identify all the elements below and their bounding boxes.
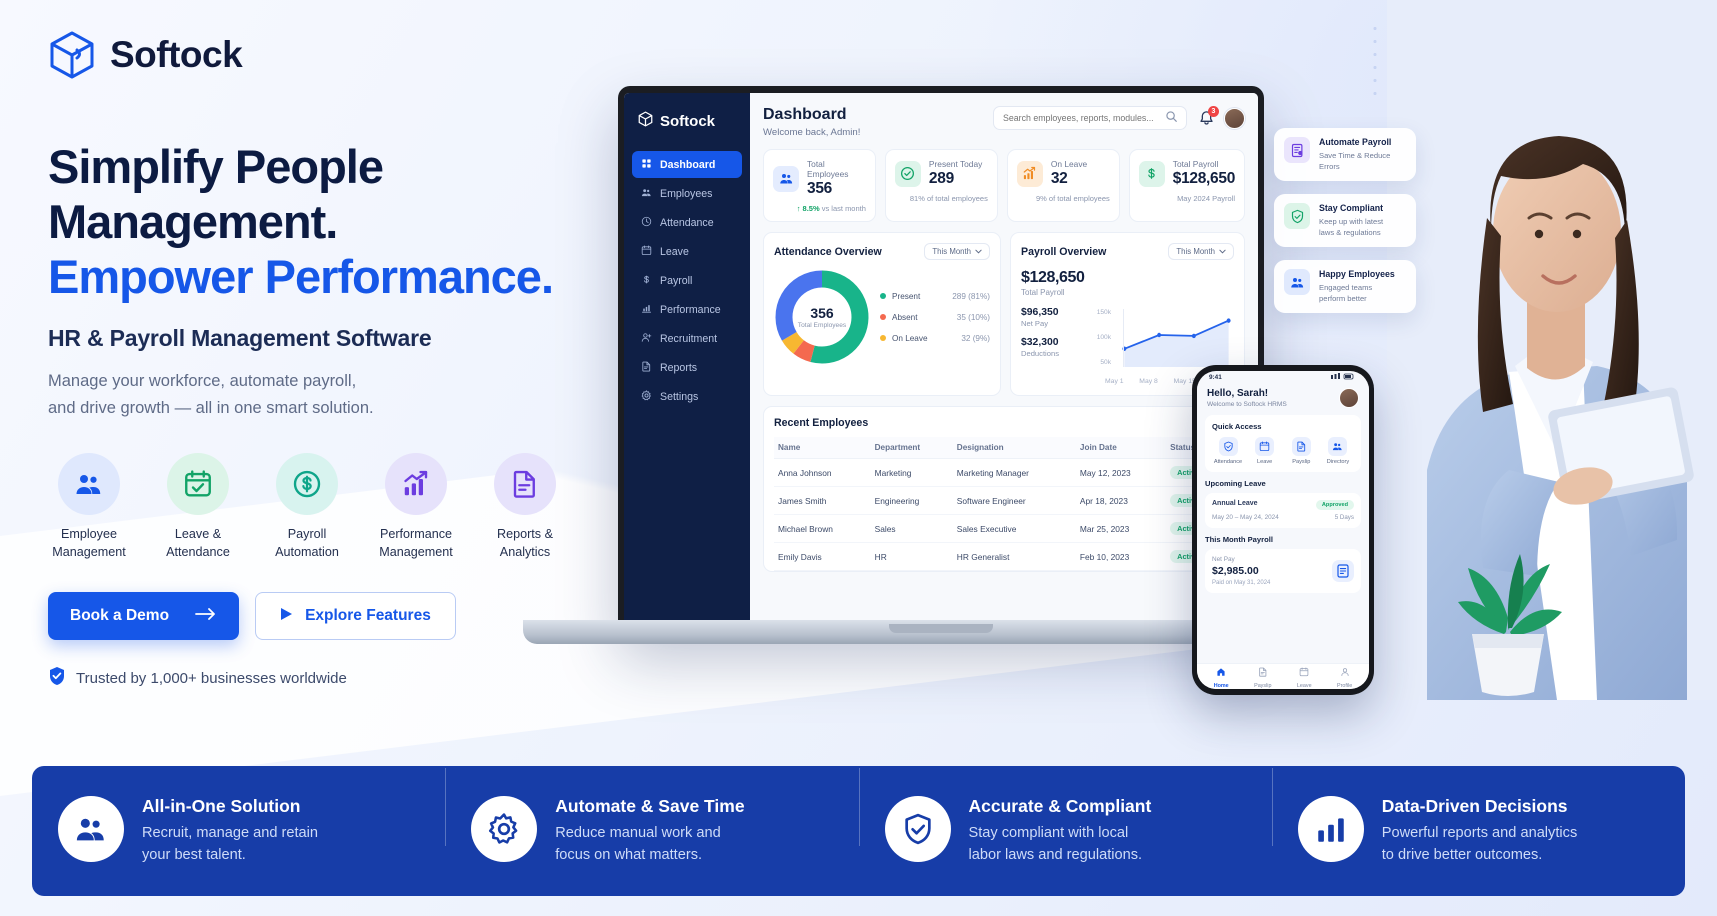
x-tick: May 8 [1139, 378, 1158, 385]
payroll-total-label: Total Payroll [1021, 288, 1234, 297]
phone-tab-label: Payslip [1254, 683, 1271, 689]
bar-chart-up-icon [1017, 161, 1043, 187]
payroll-period-filter[interactable]: This Month [1168, 243, 1234, 260]
table-cell: Marketing [871, 459, 953, 487]
floating-card-title: Happy Employees [1319, 269, 1395, 279]
kpi-value: 32 [1051, 170, 1087, 188]
kpi-footnote: May 2024 Payroll [1139, 194, 1235, 203]
phone-net-pay-value: $2,985.00 [1212, 565, 1270, 577]
calendar-icon [1255, 437, 1274, 456]
brand-name: Softock [110, 34, 242, 76]
donut-center-label: Total Employees [798, 322, 846, 329]
table-cell: Marketing Manager [953, 459, 1076, 487]
phone-body: Quick Access AttendanceLeavePayslipDirec… [1197, 415, 1369, 663]
gear-icon [641, 390, 652, 404]
table-header-cell: Join Date [1076, 437, 1166, 459]
floating-card-2: Happy EmployeesEngaged teamsperform bett… [1274, 260, 1416, 313]
feature-label-3: PerformanceManagement [375, 526, 457, 562]
payroll-chart-area: $96,350 Net Pay $32,300 Deductions 150k1… [1021, 307, 1234, 376]
calendar-icon [1299, 664, 1309, 681]
feature-item-1[interactable]: Leave &Attendance [157, 453, 239, 562]
document-icon [1258, 664, 1268, 681]
table-cell: HR [871, 543, 953, 571]
month-payroll-card[interactable]: Net Pay $2,985.00 Paid on May 31, 2024 [1205, 549, 1361, 593]
kpi-row: Total Employees356↑ 8.5% vs last monthPr… [763, 149, 1245, 222]
legend-label: Present [892, 292, 920, 301]
floating-card-0: Automate PayrollSave Time & ReduceErrors [1274, 128, 1416, 181]
bottom-banner: All-in-One SolutionRecruit, manage and r… [32, 766, 1685, 896]
sidebar-item-performance[interactable]: Performance [632, 296, 742, 323]
attendance-panel-title: Attendance Overview [774, 246, 882, 258]
document-icon [494, 453, 556, 515]
sidebar-item-recruitment[interactable]: Recruitment [632, 325, 742, 352]
leave-days: 5 Days [1335, 514, 1354, 521]
headline-line-3: Empower Performance. [48, 250, 688, 305]
upcoming-leave-card[interactable]: Annual Leave Approved May 20 – May 24, 2… [1205, 493, 1361, 528]
table-header-cell: Department [871, 437, 953, 459]
phone-header: Hello, Sarah! Welcome to Softock HRMS [1197, 384, 1369, 415]
kpi-value: 356 [807, 180, 866, 198]
arrow-right-icon [195, 607, 217, 625]
feature-label-2: PayrollAutomation [266, 526, 348, 562]
quick-access-grid: AttendanceLeavePayslipDirectory [1212, 437, 1354, 465]
table-cell: Sales Executive [953, 515, 1076, 543]
floating-card-subtitle: Keep up with latestlaws & regulations [1319, 216, 1383, 238]
banner-subtitle: Reduce manual work andfocus on what matt… [555, 823, 744, 867]
deductions-value: $32,300 [1021, 337, 1083, 348]
table-cell: Engineering [871, 487, 953, 515]
leave-dates: May 20 – May 24, 2024 [1212, 514, 1279, 521]
plant-decoration [1438, 520, 1578, 700]
kpi-card-1: Present Today28981% of total employees [885, 149, 998, 222]
payslip-icon [1332, 560, 1354, 582]
bar-chart-icon [1298, 796, 1364, 862]
leave-row-top: Annual Leave Approved [1212, 500, 1354, 510]
table-cell: HR Generalist [953, 543, 1076, 571]
payroll-breakdown: $96,350 Net Pay $32,300 Deductions [1021, 307, 1083, 376]
document-icon [641, 361, 652, 375]
phone-screen: 9:41 Hello, Sarah! Welcome to Softock HR… [1197, 371, 1369, 689]
banner-subtitle: Recruit, manage and retainyour best tale… [142, 823, 318, 867]
hero-section: Softock Simplify People Management. Empo… [48, 30, 688, 690]
phone-tab-label: Profile [1337, 683, 1352, 689]
feature-item-2[interactable]: PayrollAutomation [266, 453, 348, 562]
chevron-down-icon [975, 247, 982, 256]
calendar-check-icon [167, 453, 229, 515]
bar-chart-up-icon [385, 453, 447, 515]
shield-check-icon [1219, 437, 1238, 456]
table-cell: Feb 10, 2023 [1076, 543, 1166, 571]
chevron-down-icon [1219, 247, 1226, 256]
hero-description: Manage your workforce, automate payroll,… [48, 368, 688, 421]
dashboard-topbar: Dashboard Welcome back, Admin! [763, 106, 1245, 138]
quick-access-item-1[interactable]: Leave [1249, 437, 1281, 465]
banner-column-3: Data-Driven DecisionsPowerful reports an… [1272, 796, 1685, 867]
topbar-right: 3 [993, 106, 1245, 130]
people-icon [58, 453, 120, 515]
sidebar-item-settings[interactable]: Settings [632, 383, 742, 410]
phone-avatar[interactable] [1339, 388, 1359, 408]
page-title: Simplify People Management. Empower Perf… [48, 140, 688, 305]
sidebar-item-label: Settings [660, 391, 698, 403]
table-header-cell: Designation [953, 437, 1076, 459]
donut-center: 356 Total Employees [793, 288, 851, 346]
banner-column-2: Accurate & CompliantStay compliant with … [859, 796, 1272, 867]
grid-icon [641, 158, 652, 172]
phone-paid-on: Paid on May 31, 2024 [1212, 580, 1270, 586]
sidebar-item-payroll[interactable]: Payroll [632, 267, 742, 294]
quick-access-card: Quick Access AttendanceLeavePayslipDirec… [1205, 415, 1361, 472]
sidebar-item-reports[interactable]: Reports [632, 354, 742, 381]
quick-access-item-3[interactable]: Directory [1322, 437, 1354, 465]
leave-row-bottom: May 20 – May 24, 2024 5 Days [1212, 510, 1354, 521]
headline-line-2: Management. [48, 195, 688, 250]
kpi-label: Present Today [929, 159, 982, 169]
trust-text: Trusted by 1,000+ businesses worldwide [76, 670, 347, 687]
feature-label-0: EmployeeManagement [48, 526, 130, 562]
table-cell: Mar 25, 2023 [1076, 515, 1166, 543]
table-header-row: NameDepartmentDesignationJoin DateStatus [774, 437, 1234, 459]
sidebar-item-label: Payroll [660, 275, 692, 287]
kpi-card-3: Total Payroll$128,650May 2024 Payroll [1129, 149, 1245, 222]
phone-tab-label: Leave [1297, 683, 1312, 689]
recent-employees-title: Recent Employees [774, 417, 1234, 429]
sidebar-item-label: Dashboard [660, 159, 715, 171]
floating-card-1: Stay CompliantKeep up with latestlaws & … [1274, 194, 1416, 247]
phone-tab-bar: HomePayslipLeaveProfile [1197, 663, 1369, 689]
legend-color-dot [880, 335, 886, 341]
quick-access-label: Leave [1249, 459, 1281, 465]
home-icon [1216, 664, 1226, 681]
phone-tab-leave[interactable]: Leave [1297, 664, 1312, 689]
laptop-lid: Softock DashboardEmployeesAttendanceLeav… [618, 86, 1264, 634]
topbar-icons: 3 [1198, 108, 1245, 129]
table-cell: May 12, 2023 [1076, 459, 1166, 487]
shield-check-icon [48, 666, 66, 690]
calendar-icon [641, 245, 652, 259]
sidebar-item-label: Performance [660, 304, 721, 316]
phone-tab-label: Home [1214, 683, 1229, 689]
search-input[interactable] [1003, 113, 1160, 123]
attendance-panel-header: Attendance Overview This Month [774, 243, 990, 260]
recent-employees-panel: Recent Employees NameDepartmentDesignati… [763, 406, 1245, 572]
table-cell: Anna Johnson [774, 459, 871, 487]
legend-value: 32 (9%) [961, 334, 990, 343]
quick-access-label: Payslip [1285, 459, 1317, 465]
phone-tab-home[interactable]: Home [1214, 664, 1229, 689]
phone-net-pay-label: Net Pay [1212, 556, 1270, 563]
net-pay-label: Net Pay [1021, 319, 1083, 328]
check-circle-icon [895, 161, 921, 187]
kpi-label: Total Payroll [1173, 159, 1235, 169]
legend-value: 289 (81%) [952, 292, 990, 301]
dashboard-title: Dashboard [763, 106, 860, 124]
floating-card-subtitle: Save Time & ReduceErrors [1319, 150, 1391, 172]
net-pay-value: $96,350 [1021, 307, 1083, 318]
donut-chart-area: 356 Total Employees Present289 (81%)Abse… [774, 269, 990, 365]
dashboard-welcome: Welcome back, Admin! [763, 127, 860, 138]
table-body: Anna JohnsonMarketingMarketing ManagerMa… [774, 459, 1234, 571]
table-cell: James Smith [774, 487, 871, 515]
hero-subtitle: HR & Payroll Management Software [48, 325, 688, 352]
panel-row: Attendance Overview This Month [763, 232, 1245, 396]
sidebar-item-label: Recruitment [660, 333, 717, 345]
table-cell: Michael Brown [774, 515, 871, 543]
sidebar-item-employees[interactable]: Employees [632, 180, 742, 207]
legend-item-1: Absent35 (10%) [880, 313, 990, 322]
sidebar-item-label: Employees [660, 188, 712, 200]
feature-item-3[interactable]: PerformanceManagement [375, 453, 457, 562]
legend-color-dot [880, 314, 886, 320]
table-cell: Apr 18, 2023 [1076, 487, 1166, 515]
recent-employees-table: NameDepartmentDesignationJoin DateStatus… [774, 437, 1234, 571]
trust-badge: Trusted by 1,000+ businesses worldwide [48, 666, 688, 690]
feature-icon-row: EmployeeManagementLeave &AttendancePayro… [48, 453, 688, 562]
clock-icon [641, 216, 652, 230]
kpi-card-0: Total Employees356↑ 8.5% vs last month [763, 149, 876, 222]
gear-icon [471, 796, 537, 862]
kpi-card-2: On Leave329% of total employees [1007, 149, 1120, 222]
banner-column-1: Automate & Save TimeReduce manual work a… [445, 796, 858, 867]
banner-title: Data-Driven Decisions [1382, 796, 1578, 817]
search-icon[interactable] [1166, 109, 1177, 127]
sidebar-brand-name: Softock [660, 113, 715, 130]
legend-item-2: On Leave32 (9%) [880, 334, 990, 343]
phone-greeting-block: Hello, Sarah! Welcome to Softock HRMS [1207, 388, 1287, 408]
table-row[interactable]: Anna JohnsonMarketingMarketing ManagerMa… [774, 459, 1234, 487]
dollar-circle-icon [276, 453, 338, 515]
attendance-overview-panel: Attendance Overview This Month [763, 232, 1001, 396]
table-cell: Software Engineer [953, 487, 1076, 515]
legend-item-0: Present289 (81%) [880, 292, 990, 301]
sidebar-item-label: Reports [660, 362, 697, 374]
y-tick: 100k [1091, 334, 1111, 341]
dollar-icon [641, 274, 652, 288]
legend-color-dot [880, 293, 886, 299]
dashboard-sidebar: Softock DashboardEmployeesAttendanceLeav… [624, 93, 750, 625]
sidebar-item-label: Leave [660, 246, 689, 258]
people-icon [1284, 269, 1310, 295]
table-cell: Sales [871, 515, 953, 543]
status-time: 9:41 [1209, 374, 1222, 381]
book-demo-label: Book a Demo [70, 607, 169, 625]
headline-line-1: Simplify People [48, 140, 688, 195]
donut-center-value: 356 [810, 305, 833, 321]
net-pay-block: Net Pay $2,985.00 Paid on May 31, 2024 [1212, 556, 1270, 586]
explore-features-label: Explore Features [305, 607, 431, 625]
kpi-footnote: 9% of total employees [1017, 194, 1110, 203]
dashboard-content: Dashboard Welcome back, Admin! [750, 93, 1258, 625]
legend-value: 35 (10%) [957, 313, 990, 322]
kpi-value: 289 [929, 170, 982, 188]
table-header-cell: Name [774, 437, 871, 459]
sidebar-logo: Softock [624, 111, 750, 151]
shield-check-icon [885, 796, 951, 862]
sidebar-nav: DashboardEmployeesAttendanceLeavePayroll… [624, 151, 750, 410]
table-row[interactable]: Emily DavisHRHR GeneralistFeb 10, 2023Ac… [774, 543, 1234, 571]
laptop-notch [889, 624, 993, 633]
dollar-icon [1139, 161, 1165, 187]
kpi-footnote: 81% of total employees [895, 194, 988, 203]
people-icon [58, 796, 124, 862]
payroll-total-value: $128,650 [1021, 269, 1234, 287]
laptop-screen: Softock DashboardEmployeesAttendanceLeav… [624, 93, 1258, 625]
payroll-filter-label: This Month [1176, 247, 1215, 256]
avatar[interactable] [1224, 108, 1245, 129]
banner-subtitle: Stay compliant with locallabor laws and … [969, 823, 1152, 867]
user-icon [1340, 664, 1350, 681]
legend-label: On Leave [892, 334, 928, 343]
banner-title: Automate & Save Time [555, 796, 744, 817]
brand-logo[interactable]: Softock [48, 30, 688, 80]
y-tick: 50k [1091, 359, 1111, 366]
phone-tab-profile[interactable]: Profile [1337, 664, 1352, 689]
x-tick: May 1 [1105, 378, 1124, 385]
leave-status-badge: Approved [1316, 500, 1354, 510]
dashboard-heading: Dashboard Welcome back, Admin! [763, 106, 860, 138]
sidebar-item-label: Attendance [660, 217, 714, 229]
document-icon [1292, 437, 1311, 456]
attendance-filter-label: This Month [932, 247, 971, 256]
laptop-mockup: Softock DashboardEmployeesAttendanceLeav… [618, 86, 1264, 634]
donut-legend: Present289 (81%)Absent35 (10%)On Leave32… [878, 292, 990, 343]
floating-feature-cards: Automate PayrollSave Time & ReduceErrors… [1274, 128, 1416, 326]
leave-name: Annual Leave [1212, 500, 1258, 507]
feature-item-4[interactable]: Reports &Analytics [484, 453, 566, 562]
banner-subtitle: Powerful reports and analyticsto drive b… [1382, 823, 1578, 867]
attendance-donut-chart: 356 Total Employees [774, 269, 870, 365]
kpi-value: $128,650 [1173, 170, 1235, 188]
quick-access-item-0[interactable]: Attendance [1212, 437, 1244, 465]
phone-greeting-sub: Welcome to Softock HRMS [1207, 401, 1287, 408]
book-demo-button[interactable]: Book a Demo [48, 592, 239, 640]
floating-card-subtitle: Engaged teamsperform better [1319, 282, 1395, 304]
quick-access-title: Quick Access [1212, 422, 1354, 431]
table-row[interactable]: James SmithEngineeringSoftware EngineerA… [774, 487, 1234, 515]
play-icon [280, 607, 293, 626]
month-payroll-title: This Month Payroll [1205, 535, 1361, 544]
quick-access-label: Attendance [1212, 459, 1244, 465]
chart-icon [641, 303, 652, 317]
phone-mockup: 9:41 Hello, Sarah! Welcome to Softock HR… [1192, 365, 1374, 695]
banner-title: All-in-One Solution [142, 796, 318, 817]
upcoming-leave-title: Upcoming Leave [1205, 479, 1361, 488]
attendance-period-filter[interactable]: This Month [924, 243, 990, 260]
quick-access-item-2[interactable]: Payslip [1285, 437, 1317, 465]
search-box[interactable] [993, 106, 1187, 130]
banner-column-0: All-in-One SolutionRecruit, manage and r… [32, 796, 445, 867]
people-icon [773, 166, 799, 192]
table-cell: Emily Davis [774, 543, 871, 571]
people-icon [1328, 437, 1347, 456]
banner-title: Accurate & Compliant [969, 796, 1152, 817]
hero-description-line-1: Manage your workforce, automate payroll, [48, 368, 688, 395]
people-icon [641, 187, 652, 201]
floating-card-title: Stay Compliant [1319, 203, 1383, 213]
kpi-label: Total Employees [807, 159, 866, 179]
hero-description-line-2: and drive growth — all in one smart solu… [48, 395, 688, 422]
payroll-panel-header: Payroll Overview This Month [1021, 243, 1234, 260]
phone-status-bar: 9:41 [1197, 371, 1369, 384]
payroll-panel-title: Payroll Overview [1021, 246, 1106, 258]
explore-features-button[interactable]: Explore Features [255, 592, 456, 640]
phone-greeting: Hello, Sarah! [1207, 388, 1287, 399]
sidebar-item-attendance[interactable]: Attendance [632, 209, 742, 236]
cube-logo-icon [48, 30, 96, 80]
floating-card-title: Automate Payroll [1319, 137, 1391, 147]
table-row[interactable]: Michael BrownSalesSales ExecutiveMar 25,… [774, 515, 1234, 543]
payroll-doc-icon [1284, 137, 1310, 163]
legend-label: Absent [892, 313, 918, 322]
sidebar-item-leave[interactable]: Leave [632, 238, 742, 265]
feature-label-1: Leave &Attendance [157, 526, 239, 562]
quick-access-label: Directory [1322, 459, 1354, 465]
payroll-y-axis: 150k100k50k [1091, 307, 1111, 376]
deductions-label: Deductions [1021, 349, 1083, 358]
shield-check-icon [1284, 203, 1310, 229]
notification-badge: 3 [1208, 106, 1219, 117]
kpi-footnote: ↑ 8.5% vs last month [773, 204, 866, 213]
feature-label-4: Reports &Analytics [484, 526, 566, 562]
y-tick: 150k [1091, 309, 1111, 316]
kpi-label: On Leave [1051, 159, 1087, 169]
cube-logo-icon [638, 111, 653, 131]
phone-tab-payslip[interactable]: Payslip [1254, 664, 1271, 689]
feature-item-0[interactable]: EmployeeManagement [48, 453, 130, 562]
status-indicators [1331, 373, 1357, 382]
sidebar-item-dashboard[interactable]: Dashboard [632, 151, 742, 178]
notifications-button[interactable]: 3 [1198, 110, 1215, 127]
user-plus-icon [641, 332, 652, 346]
